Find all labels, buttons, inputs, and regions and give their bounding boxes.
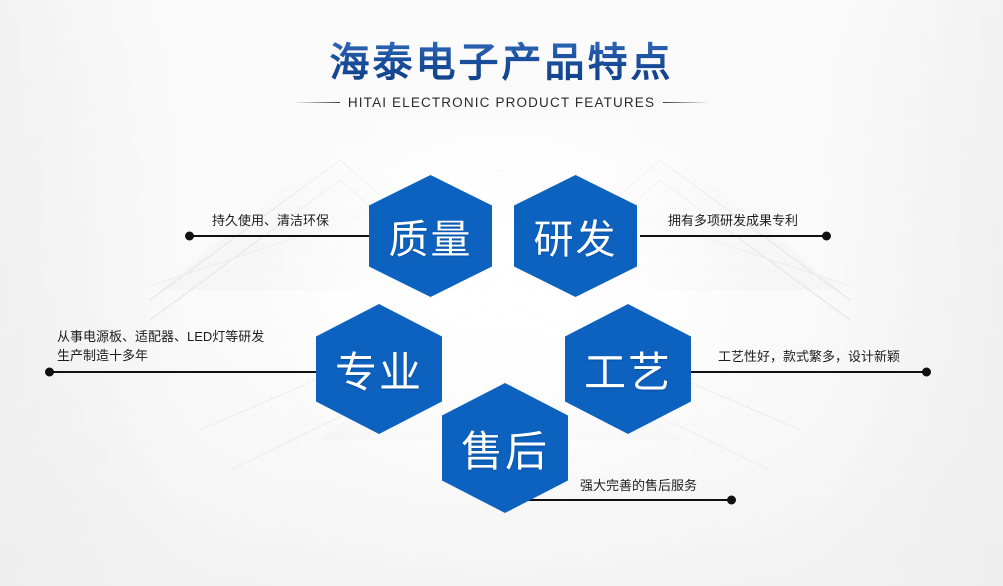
- hexagon-aftersales-label: 售后: [461, 418, 549, 479]
- connector-dot-quality: [185, 232, 194, 241]
- connector-label-quality-line-1: 持久使用、清洁环保: [212, 212, 329, 230]
- connector-label-aftersales-line-1: 强大完善的售后服务: [580, 477, 697, 495]
- connector-label-craft-line-1: 工艺性好，款式繁多，设计新颖: [718, 348, 900, 366]
- connector-line-quality: [188, 235, 380, 237]
- connector-label-profession-line-2: 生产制造十多年: [57, 346, 264, 365]
- feature-infographic: 海泰电子产品特点 HITAI ELECTRONIC PRODUCT FEATUR…: [0, 0, 1003, 586]
- hexagon-profession[interactable]: 专业: [316, 304, 442, 434]
- connector-label-profession: 从事电源板、适配器、LED灯等研发 生产制造十多年: [57, 327, 264, 365]
- connector-label-rd: 拥有多项研发成果专利: [668, 212, 798, 230]
- connector-label-quality: 持久使用、清洁环保: [212, 212, 329, 230]
- connector-label-aftersales: 强大完善的售后服务: [580, 477, 697, 495]
- subtitle-row: HITAI ELECTRONIC PRODUCT FEATURES: [0, 95, 1003, 110]
- connector-dot-aftersales: [727, 496, 736, 505]
- connector-dot-profession: [45, 368, 54, 377]
- hexagon-craft[interactable]: 工艺: [565, 304, 691, 434]
- page-subtitle: HITAI ELECTRONIC PRODUCT FEATURES: [348, 95, 655, 110]
- subtitle-dash-right: [663, 102, 709, 103]
- page-title: 海泰电子产品特点: [0, 40, 1003, 86]
- connector-label-rd-line-1: 拥有多项研发成果专利: [668, 212, 798, 230]
- header: 海泰电子产品特点 HITAI ELECTRONIC PRODUCT FEATUR…: [0, 40, 1003, 110]
- connector-dot-rd: [822, 232, 831, 241]
- hexagon-craft-label: 工艺: [584, 339, 672, 400]
- hexagon-quality[interactable]: 质量: [369, 175, 492, 297]
- hexagon-aftersales[interactable]: 售后: [442, 383, 568, 513]
- hexagon-profession-label: 专业: [335, 339, 423, 400]
- connector-line-profession: [48, 371, 334, 373]
- connector-dot-craft: [922, 368, 931, 377]
- subtitle-dash-left: [294, 102, 340, 103]
- connector-label-profession-line-1: 从事电源板、适配器、LED灯等研发: [57, 327, 264, 346]
- hexagon-rd-label: 研发: [534, 207, 618, 265]
- connector-label-craft: 工艺性好，款式繁多，设计新颖: [718, 348, 900, 366]
- hexagon-quality-label: 质量: [389, 207, 473, 265]
- connector-line-rd: [640, 235, 828, 237]
- connector-line-aftersales: [503, 499, 733, 501]
- connector-line-craft: [690, 371, 928, 373]
- hexagon-rd[interactable]: 研发: [514, 175, 637, 297]
